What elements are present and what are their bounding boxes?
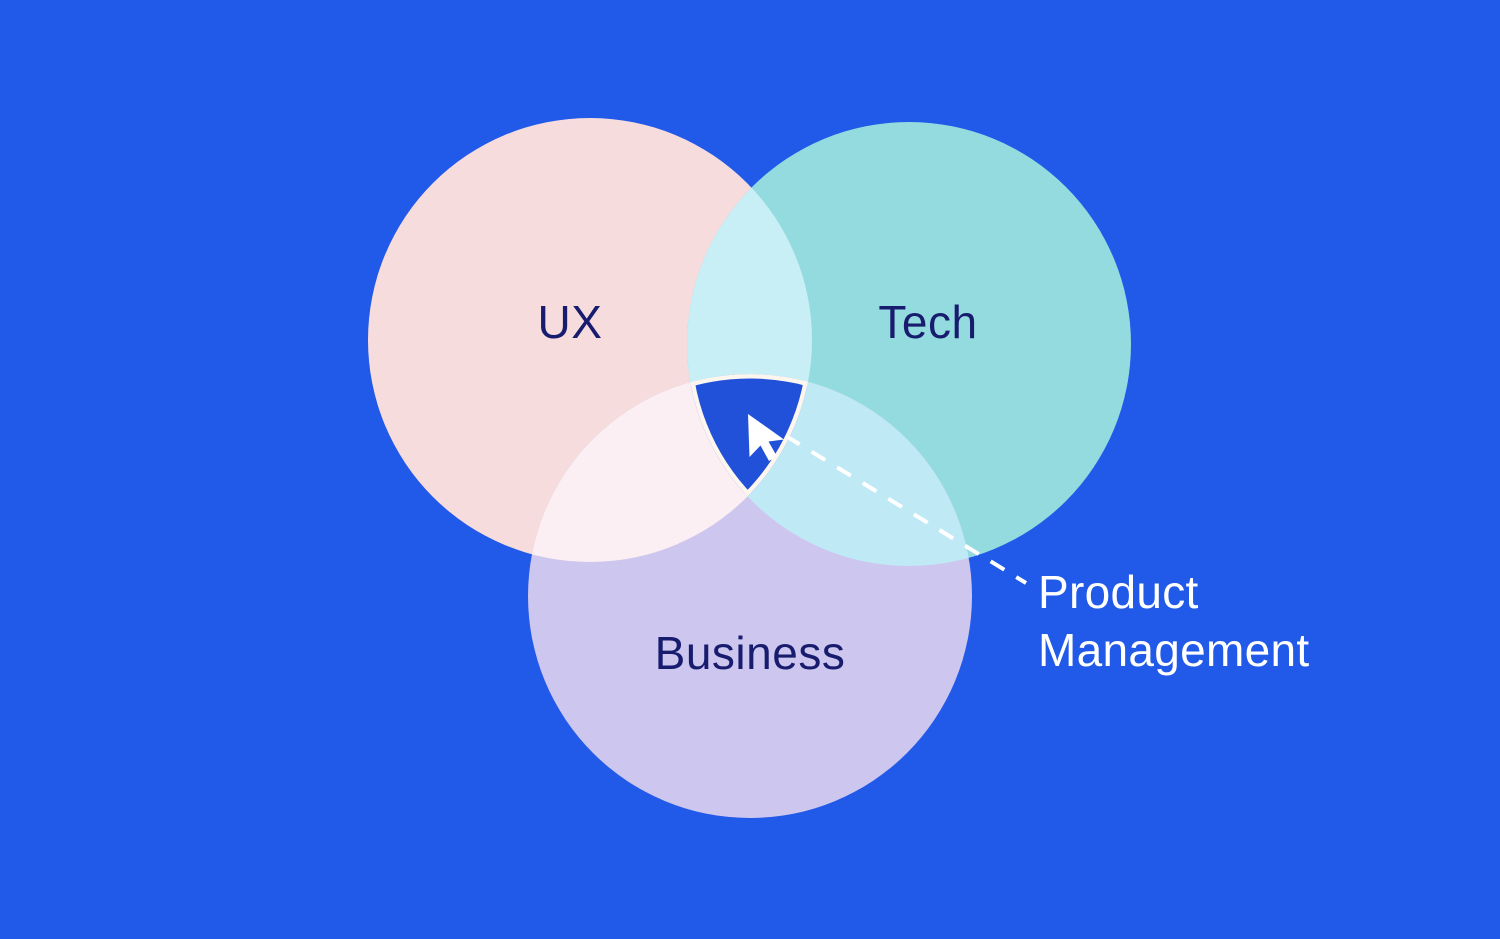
callout-label-line-1: Product — [1038, 566, 1199, 618]
venn-diagram-canvas: UX Tech Business Product Management — [0, 0, 1500, 939]
venn-label-tech: Tech — [878, 296, 977, 348]
callout-label-line-2: Management — [1038, 624, 1310, 676]
venn-label-ux: UX — [538, 296, 603, 348]
venn-diagram: UX Tech Business Product Management — [0, 0, 1500, 939]
venn-label-business: Business — [655, 627, 846, 679]
